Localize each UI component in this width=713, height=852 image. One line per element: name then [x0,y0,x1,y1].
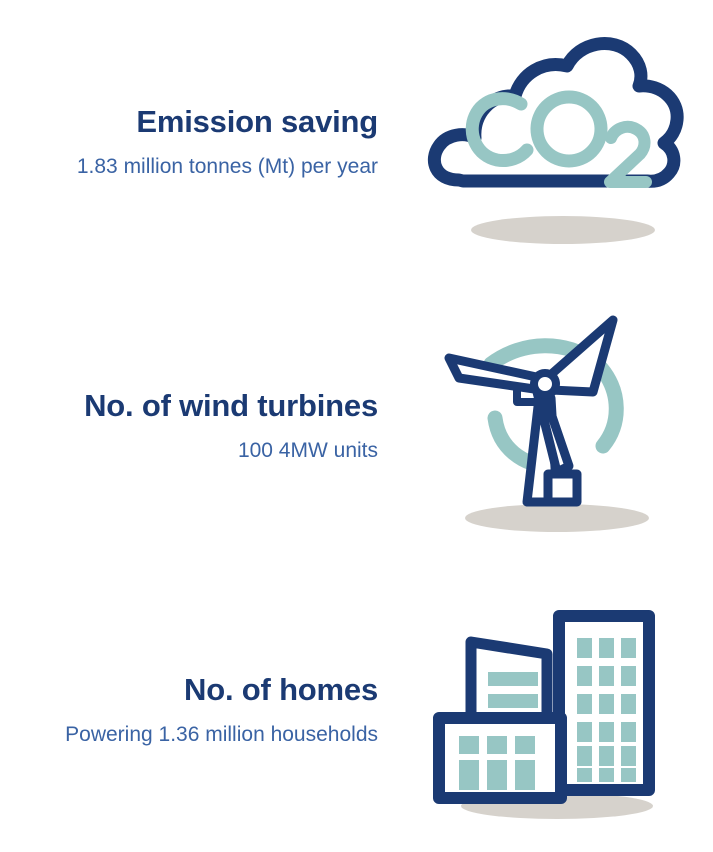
buildings-icon [417,590,697,830]
building-front-windows [459,736,535,790]
icon-col-emission-saving [400,0,713,284]
stat-row-emission-saving: Emission saving 1.83 million tonnes (Mt)… [0,0,713,284]
stat-text-wind-turbines: No. of wind turbines 100 4MW units [0,388,400,465]
stat-heading-emission-saving: Emission saving [136,104,378,140]
stat-text-homes: No. of homes Powering 1.36 million house… [0,672,400,749]
stat-subtitle-emission-saving: 1.83 million tonnes (Mt) per year [77,153,378,180]
motion-arc-right [601,368,616,446]
wind-turbine-icon [417,306,697,546]
infographic-container: Emission saving 1.83 million tonnes (Mt)… [0,0,713,852]
turbine-hub [534,373,556,395]
icon-shadow-ellipse [471,216,655,244]
stat-subtitle-homes: Powering 1.36 million households [65,721,378,748]
stat-row-homes: No. of homes Powering 1.36 million house… [0,568,713,852]
turbine-base-step [548,474,577,502]
icon-col-wind-turbines [400,284,713,568]
icon-shadow-ellipse [465,504,649,532]
co2-letter-o [537,97,601,161]
co2-cloud-icon [417,22,697,262]
icon-col-homes [400,568,713,852]
stat-heading-wind-turbines: No. of wind turbines [84,388,378,424]
stat-subtitle-wind-turbines: 100 4MW units [238,437,378,464]
stat-text-emission-saving: Emission saving 1.83 million tonnes (Mt)… [0,104,400,181]
co2-subscript-two [610,127,646,182]
stat-row-wind-turbines: No. of wind turbines 100 4MW units [0,284,713,568]
stat-heading-homes: No. of homes [184,672,378,708]
